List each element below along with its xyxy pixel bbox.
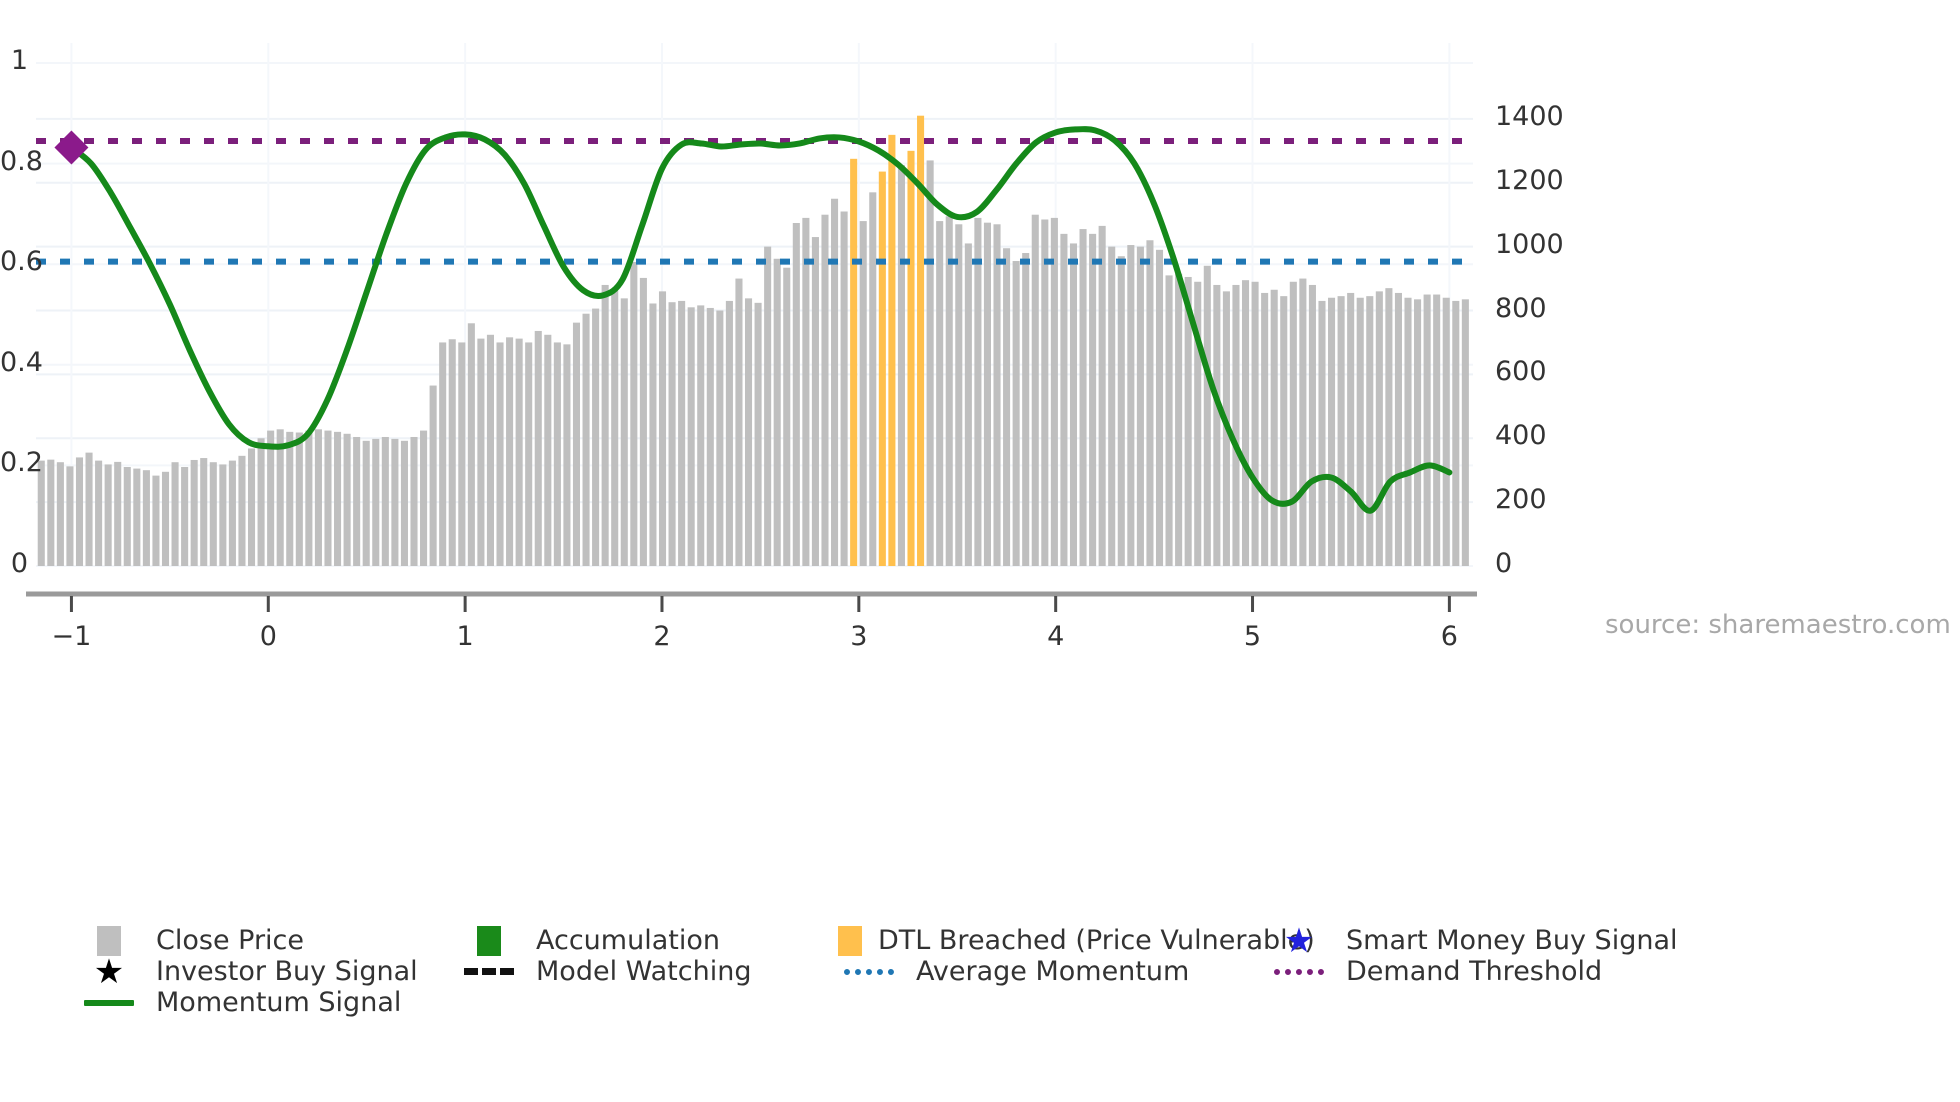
bar-dtl-breached — [850, 159, 857, 566]
bar-close-price — [1232, 285, 1239, 566]
legend-item-accumulation[interactable]: Accumulation — [458, 925, 838, 956]
bar-close-price — [477, 339, 484, 566]
legend-label-dtl-breached: DTL Breached (Price Vulnerable) — [878, 925, 1315, 956]
bar-close-price — [277, 429, 284, 566]
bar-close-price — [66, 466, 73, 566]
y-axis-left-tick-label: 0.8 — [0, 146, 28, 177]
y-axis-right-tick-label: 200 — [1495, 484, 1547, 515]
investor-star-holder: ★ — [78, 957, 140, 987]
bar-dtl-breached — [907, 151, 914, 566]
legend-label-model-watching: Model Watching — [536, 956, 751, 987]
smart-money-star-holder: ★ — [1268, 926, 1330, 956]
bar-close-price — [764, 247, 771, 566]
y-axis-right-tick-label: 1000 — [1495, 229, 1564, 260]
bar-close-price — [1309, 285, 1316, 566]
bar-close-price — [1213, 285, 1220, 566]
bar-close-price — [630, 262, 637, 566]
legend-item-smart-money[interactable]: ★ Smart Money Buy Signal — [1268, 925, 1678, 956]
legend-label-accumulation: Accumulation — [536, 925, 720, 956]
x-axis-tick-label: 2 — [622, 621, 702, 652]
legend-item-momentum-signal[interactable]: Momentum Signal — [78, 987, 458, 1018]
bar-close-price — [1318, 301, 1325, 566]
bar-close-price — [162, 472, 169, 566]
bar-close-price — [1424, 295, 1431, 566]
star-icon-black: ★ — [94, 957, 124, 987]
bar-close-price — [229, 461, 236, 566]
bar-close-price — [936, 221, 943, 566]
bar-close-price — [1357, 298, 1364, 566]
bar-close-price — [793, 223, 800, 566]
bar-close-price — [1290, 282, 1297, 566]
bar-close-price — [841, 212, 848, 567]
solid-line-icon-green — [84, 1000, 134, 1006]
bar-close-price — [47, 460, 54, 566]
chart-legend: Close Price Accumulation DTL Breached (P… — [78, 925, 1878, 1018]
bar-close-price — [678, 301, 685, 566]
bar-close-price — [439, 342, 446, 566]
bar-close-price — [191, 460, 198, 566]
legend-item-demand-threshold[interactable]: Demand Threshold — [1268, 956, 1602, 987]
dashed-line-icon — [464, 968, 514, 975]
demand-threshold-line-holder — [1268, 969, 1330, 975]
bar-close-price — [344, 434, 351, 566]
y-axis-left-tick-label: 0.2 — [0, 447, 28, 478]
bar-close-price — [305, 431, 312, 566]
legend-item-average-momentum[interactable]: Average Momentum — [838, 956, 1268, 987]
legend-row-1: Close Price Accumulation DTL Breached (P… — [78, 925, 1878, 956]
bar-close-price — [659, 291, 666, 566]
source-note: source: sharemaestro.com — [1605, 610, 1951, 640]
bar-close-price — [124, 467, 131, 566]
y-axis-right-tick-label: 0 — [1495, 548, 1512, 579]
bar-close-price — [1347, 293, 1354, 566]
bar-close-price — [1280, 296, 1287, 566]
bar-close-price — [1252, 282, 1259, 566]
bar-close-price — [105, 464, 112, 566]
bar-close-price — [1338, 296, 1345, 566]
bar-close-price — [831, 199, 838, 566]
bar-close-price — [458, 342, 465, 566]
close-price-swatch-holder — [78, 926, 140, 956]
bar-close-price — [621, 298, 628, 566]
bar-close-price — [1089, 234, 1096, 566]
bar-close-price — [821, 215, 828, 566]
bar-close-price — [860, 221, 867, 566]
accumulation-swatch-icon — [477, 926, 501, 956]
y-axis-left-tick-label: 0.6 — [0, 246, 28, 277]
bar-close-price — [143, 470, 150, 566]
bar-close-price — [363, 441, 370, 566]
bar-close-price — [86, 453, 93, 566]
bar-close-price — [210, 462, 217, 566]
bar-close-price — [1127, 245, 1134, 566]
bar-close-price — [955, 224, 962, 566]
bar-close-price — [927, 160, 934, 566]
bar-close-price — [1166, 275, 1173, 566]
bar-close-price — [1443, 298, 1450, 566]
accumulation-swatch-holder — [458, 926, 520, 956]
legend-label-investor-buy: Investor Buy Signal — [156, 956, 418, 987]
bar-close-price — [296, 433, 303, 566]
bar-close-price — [1376, 291, 1383, 566]
dtl-swatch-holder — [838, 926, 862, 956]
y-axis-right-tick-label: 1200 — [1495, 165, 1564, 196]
bar-close-price — [1060, 234, 1067, 566]
bar-close-price — [152, 476, 159, 566]
bar-close-price — [1137, 247, 1144, 566]
bar-close-price — [420, 431, 427, 566]
bar-close-price — [1204, 266, 1211, 566]
bar-close-price — [965, 243, 972, 566]
dotted-line-icon-blue — [844, 969, 894, 975]
legend-row-3: Momentum Signal — [78, 987, 1878, 1018]
bar-close-price — [755, 303, 762, 566]
bar-close-price — [410, 437, 417, 566]
bar-close-price — [1452, 301, 1459, 566]
bar-close-price — [181, 467, 188, 566]
y-axis-left-tick-label: 0.4 — [0, 347, 28, 378]
legend-label-momentum-signal: Momentum Signal — [156, 987, 401, 1018]
x-axis-tick-label: 1 — [425, 621, 505, 652]
legend-item-dtl-breached[interactable]: DTL Breached (Price Vulnerable) — [838, 925, 1268, 956]
bar-close-price — [133, 469, 140, 566]
bar-close-price — [707, 308, 714, 566]
x-axis-tick-label: 3 — [819, 621, 899, 652]
bar-close-price — [1385, 288, 1392, 566]
star-icon-blue: ★ — [1284, 926, 1314, 956]
chart-root: 10.80.60.40.20 1400120010008006004002000… — [0, 0, 1960, 1102]
bar-close-price — [592, 309, 599, 566]
bar-close-price — [258, 438, 265, 566]
bar-close-price — [1003, 248, 1010, 566]
x-axis-tick-label: 0 — [228, 621, 308, 652]
y-axis-left-tick-label: 0 — [0, 548, 28, 579]
bar-close-price — [496, 342, 503, 566]
bar-close-price — [812, 237, 819, 566]
legend-item-close-price[interactable]: Close Price — [78, 925, 458, 956]
bar-close-price — [1099, 226, 1106, 566]
legend-row-2: ★ Investor Buy Signal Model Watching Ave… — [78, 956, 1878, 987]
bar-dtl-breached — [888, 135, 895, 566]
x-axis-tick-label: 5 — [1213, 621, 1293, 652]
bar-close-price — [1261, 293, 1268, 566]
bar-close-price — [649, 303, 656, 566]
bar-close-price — [1070, 243, 1077, 566]
avg-momentum-line-holder — [838, 969, 900, 975]
bar-close-price — [669, 302, 676, 566]
bar-dtl-breached — [879, 172, 886, 566]
bar-close-price — [1271, 290, 1278, 566]
x-axis-tick-label: 6 — [1409, 621, 1489, 652]
bar-close-price — [1051, 218, 1058, 566]
bar-close-price — [802, 218, 809, 566]
bar-close-price — [573, 323, 580, 566]
legend-label-close-price: Close Price — [156, 925, 304, 956]
bar-close-price — [946, 216, 953, 566]
bar-close-price — [1118, 256, 1125, 566]
bar-close-price — [1032, 215, 1039, 566]
y-axis-right-tick-label: 800 — [1495, 293, 1547, 324]
bar-close-price — [984, 223, 991, 566]
bar-close-price — [315, 429, 322, 566]
bar-close-price — [525, 342, 532, 566]
bar-close-price — [774, 259, 781, 566]
bar-close-price — [516, 339, 523, 566]
bar-close-price — [353, 437, 360, 566]
legend-label-smart-money: Smart Money Buy Signal — [1346, 925, 1678, 956]
momentum-line-holder — [78, 1000, 140, 1006]
legend-item-model-watching[interactable]: Model Watching — [458, 956, 838, 987]
bar-close-price — [391, 439, 398, 566]
y-axis-right-tick-label: 1400 — [1495, 101, 1564, 132]
bar-close-price — [974, 218, 981, 566]
bar-close-price — [430, 386, 437, 566]
bar-close-price — [1146, 240, 1153, 566]
bar-close-price — [898, 165, 905, 566]
bar-close-price — [286, 432, 293, 566]
bar-close-price — [688, 307, 695, 566]
bar-close-price — [172, 462, 179, 566]
bar-close-price — [1414, 299, 1421, 566]
bar-close-price — [372, 439, 379, 566]
y-axis-left-tick-label: 1 — [0, 45, 28, 76]
bar-close-price — [869, 192, 876, 566]
x-axis-tick-label: −1 — [31, 621, 111, 652]
x-axis-tick-label: 4 — [1016, 621, 1096, 652]
bar-close-price — [1242, 280, 1249, 566]
bar-close-price — [1041, 219, 1048, 566]
bar-close-price — [1462, 299, 1469, 566]
bar-close-price — [1404, 298, 1411, 566]
bar-close-price — [449, 339, 456, 566]
dtl-breached-swatch-icon — [838, 926, 862, 956]
model-watching-line-holder — [458, 968, 520, 975]
bar-close-price — [602, 285, 609, 566]
bar-close-price — [468, 323, 475, 566]
bar-close-price — [726, 301, 733, 566]
bar-close-price — [1328, 298, 1335, 566]
bar-close-price — [1080, 229, 1087, 566]
bar-close-price — [783, 268, 790, 566]
bar-close-price — [1022, 253, 1029, 566]
legend-label-average-momentum: Average Momentum — [916, 956, 1189, 987]
bar-close-price — [1366, 296, 1373, 566]
bar-close-price — [238, 456, 245, 566]
bar-close-price — [401, 441, 408, 566]
bar-close-price — [745, 298, 752, 566]
legend-item-investor-buy[interactable]: ★ Investor Buy Signal — [78, 956, 458, 987]
close-price-swatch-icon — [97, 926, 121, 956]
bar-close-price — [76, 457, 83, 566]
bar-close-price — [1013, 261, 1020, 566]
bar-close-price — [640, 278, 647, 566]
bar-close-price — [506, 337, 513, 566]
bar-close-price — [334, 432, 341, 566]
bar-close-price — [267, 431, 274, 566]
bar-close-price — [563, 344, 570, 566]
bar-close-price — [735, 279, 742, 566]
bar-close-price — [1156, 250, 1163, 566]
bar-close-price — [487, 335, 494, 566]
y-axis-right-tick-label: 400 — [1495, 420, 1547, 451]
bar-close-price — [544, 335, 551, 566]
bar-close-price — [716, 311, 723, 566]
bar-close-price — [324, 431, 331, 566]
bar-close-price — [993, 224, 1000, 566]
bar-close-price — [95, 461, 102, 566]
bar-close-price — [1395, 293, 1402, 566]
bar-close-price — [1108, 247, 1115, 566]
bar-close-price — [583, 314, 590, 566]
bar-close-price — [554, 342, 561, 566]
legend-label-demand-threshold: Demand Threshold — [1346, 956, 1602, 987]
bar-close-price — [219, 464, 226, 566]
bar-close-price — [57, 462, 64, 566]
bar-close-price — [114, 462, 121, 566]
bar-close-price — [1175, 274, 1182, 566]
dotted-line-icon-purple — [1274, 969, 1324, 975]
bar-close-price — [200, 458, 207, 566]
bar-close-price — [382, 437, 389, 566]
bar-close-price — [535, 331, 542, 566]
bar-close-price — [1433, 295, 1440, 566]
bar-close-price — [1299, 279, 1306, 566]
bar-close-price — [611, 291, 618, 566]
bar-close-price — [697, 305, 704, 566]
y-axis-right-tick-label: 600 — [1495, 356, 1547, 387]
bar-close-price — [248, 448, 255, 566]
